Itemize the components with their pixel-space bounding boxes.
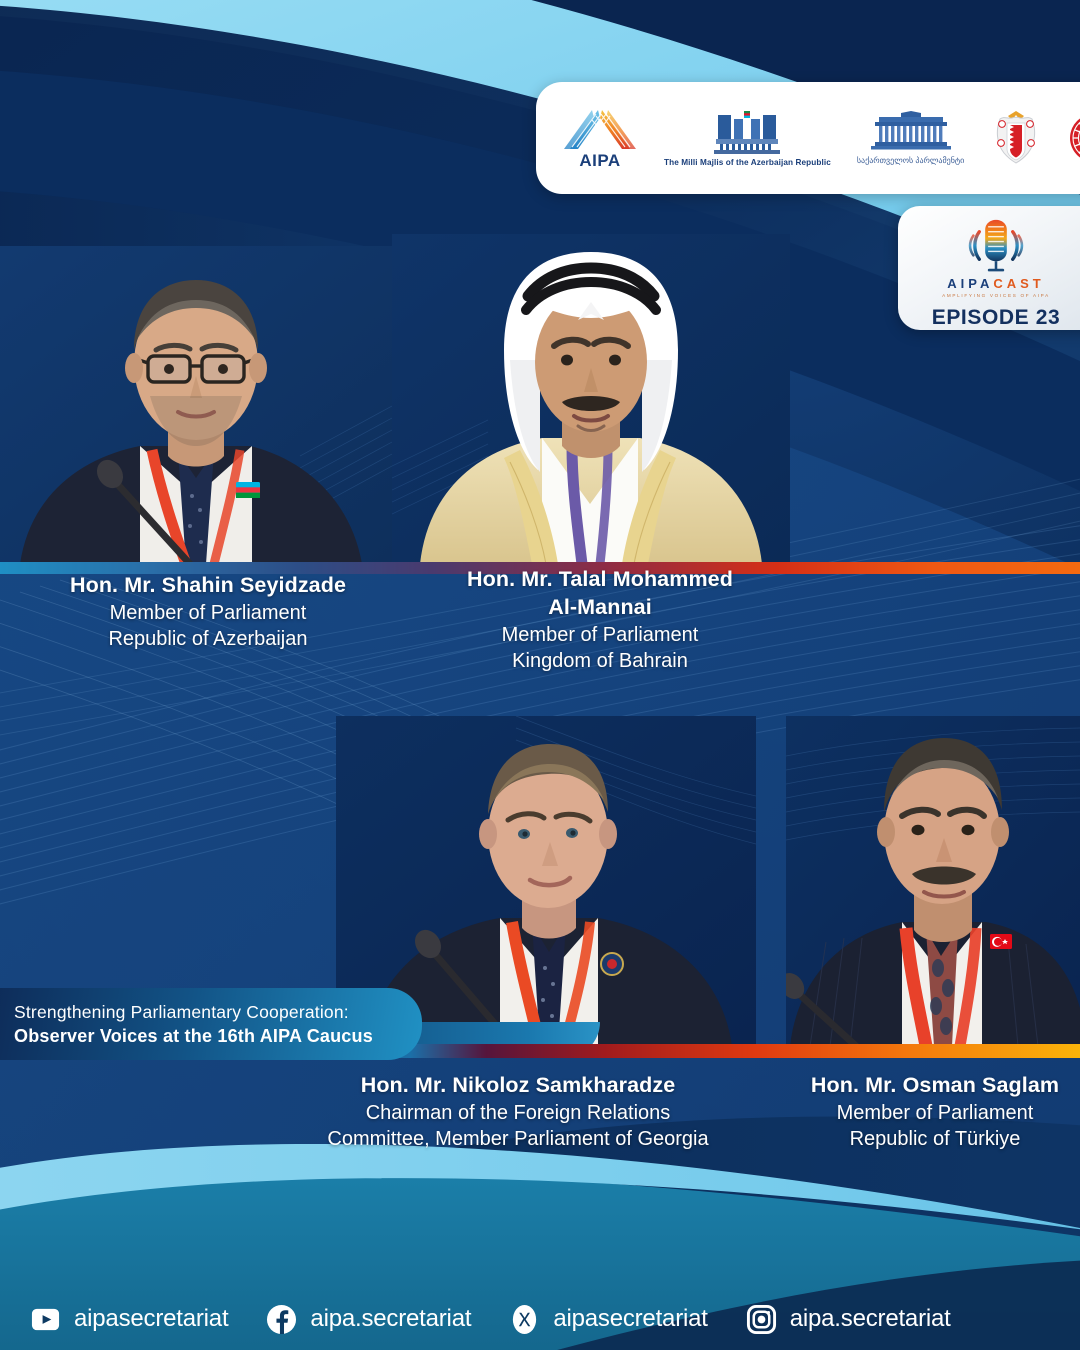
speaker-2-role: Member of Parliament: [420, 622, 780, 648]
episode-title-line-1: Strengthening Parliamentary Cooperation:: [14, 1002, 422, 1023]
speaker-photo-4-image: [786, 716, 1080, 1046]
episode-title-banner: Strengthening Parliamentary Cooperation:…: [0, 988, 422, 1060]
x-twitter-icon[interactable]: [509, 1304, 540, 1335]
georgia-parliament-building-icon: [865, 111, 957, 153]
speaker-caption-1: Hon. Mr. Shahin Seyidzade Member of Parl…: [28, 572, 388, 652]
poster-canvas: AIPA The: [0, 0, 1080, 1350]
speaker-photo-4: [786, 716, 1080, 1046]
aipacast-tagline: AMPLIFYING VOICES OF AIPA: [942, 293, 1050, 298]
milli-majlis-building-icon: [710, 109, 784, 155]
milli-majlis-logo: The Milli Majlis of the Azerbaijan Repub…: [664, 109, 831, 167]
georgia-parliament-caption: საქართველოს პარლამენტი: [857, 156, 964, 165]
speaker-photo-1-image: [0, 246, 392, 564]
speaker-3-name: Hon. Mr. Nikoloz Samkharadze: [258, 1072, 778, 1100]
speaker-3-country: Committee, Member Parliament of Georgia: [258, 1126, 778, 1152]
social-youtube[interactable]: aipasecretariat: [30, 1304, 228, 1335]
social-instagram[interactable]: aipa.secretariat: [746, 1304, 951, 1335]
georgia-parliament-logo: საქართველოს პარლამენტი: [857, 111, 964, 165]
social-x-twitter[interactable]: aipasecretariat: [509, 1304, 707, 1335]
speaker-caption-4: Hon. Mr. Osman Saglam Member of Parliame…: [790, 1072, 1080, 1152]
aipa-logo: AIPA: [562, 107, 638, 169]
speaker-4-name: Hon. Mr. Osman Saglam: [790, 1072, 1080, 1100]
aipacast-aipa-text: AIPA: [947, 276, 993, 291]
speaker-photo-2: [392, 234, 790, 564]
speaker-3-role: Chairman of the Foreign Relations: [258, 1100, 778, 1126]
social-footer: aipasecretariat aipa.secretariat aipasec…: [0, 1288, 1080, 1350]
youtube-icon[interactable]: [30, 1304, 61, 1335]
facebook-icon[interactable]: [266, 1304, 297, 1335]
aipacast-wordmark: AIPACAST: [947, 276, 1045, 291]
speaker-1-name: Hon. Mr. Shahin Seyidzade: [28, 572, 388, 600]
speaker-2-name: Hon. Mr. Talal Mohammed: [420, 566, 780, 594]
speaker-4-country: Republic of Türkiye: [790, 1126, 1080, 1152]
social-facebook[interactable]: aipa.secretariat: [266, 1304, 471, 1335]
speaker-2-name-line2: Al-Mannai: [420, 594, 780, 622]
speaker-caption-2: Hon. Mr. Talal Mohammed Al-Mannai Member…: [420, 566, 780, 674]
milli-majlis-caption: The Milli Majlis of the Azerbaijan Repub…: [664, 158, 831, 167]
social-instagram-handle[interactable]: aipa.secretariat: [790, 1305, 951, 1333]
social-x-handle[interactable]: aipasecretariat: [553, 1305, 707, 1333]
partner-logo-bar: AIPA The: [536, 82, 1080, 194]
svg-text:AIPA: AIPA: [579, 151, 620, 169]
episode-number: EPISODE 23: [932, 306, 1061, 330]
speaker-1-role: Member of Parliament: [28, 600, 388, 626]
turkiye-assembly-emblem: [1068, 112, 1080, 164]
bahrain-emblem: [990, 107, 1042, 169]
aipacast-episode-badge: AIPACAST AMPLIFYING VOICES OF AIPA EPISO…: [898, 206, 1080, 330]
speaker-2-country: Kingdom of Bahrain: [420, 648, 780, 674]
instagram-icon[interactable]: [746, 1304, 777, 1335]
aipacast-cast-text: CAST: [993, 276, 1044, 291]
speaker-4-role: Member of Parliament: [790, 1100, 1080, 1126]
turkiye-grand-assembly-icon: [1068, 112, 1080, 164]
aipa-logo-mark: AIPA: [562, 107, 638, 169]
speaker-1-country: Republic of Azerbaijan: [28, 626, 388, 652]
episode-title-line-2: Observer Voices at the 16th AIPA Caucus: [14, 1026, 422, 1047]
bahrain-coat-of-arms-icon: [990, 107, 1042, 169]
social-facebook-handle[interactable]: aipa.secretariat: [310, 1305, 471, 1333]
speaker-photo-2-image: [392, 234, 790, 564]
speaker-photo-1: [0, 246, 392, 564]
social-youtube-handle[interactable]: aipasecretariat: [74, 1305, 228, 1333]
microphone-icon: [965, 214, 1027, 275]
speaker-caption-3: Hon. Mr. Nikoloz Samkharadze Chairman of…: [258, 1072, 778, 1152]
